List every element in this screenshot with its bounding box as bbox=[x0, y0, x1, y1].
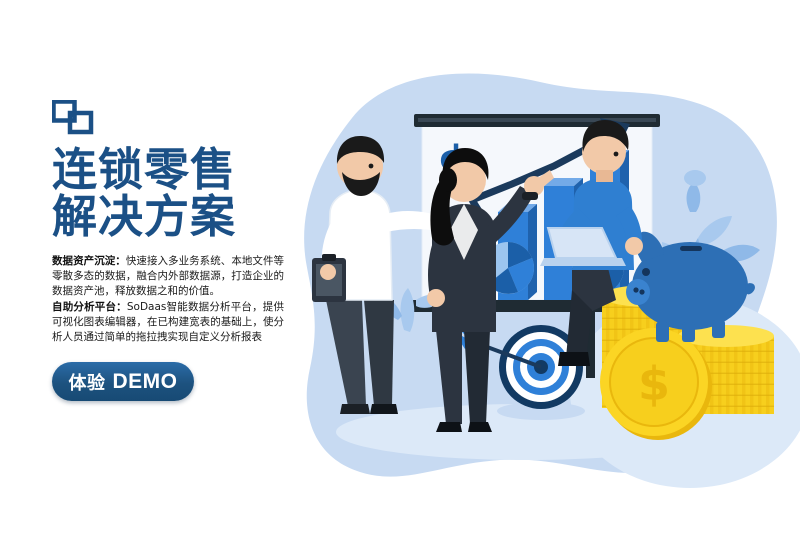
description-label-2: 自助分析平台： bbox=[52, 301, 127, 313]
description-paragraph-2: 自助分析平台：SoDaas智能数据分析平台，提供可视化图表编辑器，在已构建宽表的… bbox=[52, 300, 284, 346]
overlapping-squares-logo-icon bbox=[52, 100, 94, 136]
description-label-1: 数据资产沉淀： bbox=[52, 255, 126, 267]
headline-line-2: 解决方案 bbox=[52, 193, 297, 240]
demo-cta-button[interactable]: 体验 DEMO bbox=[52, 362, 194, 401]
wristwatch-icon bbox=[522, 192, 538, 200]
illustration-business-analytics: $ bbox=[286, 0, 800, 533]
marketing-banner: 连锁零售 解决方案 数据资产沉淀：快速接入多业务系统、本地文件等零散多态的数据，… bbox=[0, 0, 800, 533]
headline-line-1: 连锁零售 bbox=[52, 146, 297, 193]
description-block: 数据资产沉淀：快速接入多业务系统、本地文件等零散多态的数据，融合内外部数据源，打… bbox=[52, 254, 284, 345]
demo-cta-label-en: DEMO bbox=[113, 370, 178, 394]
page-title: 连锁零售 解决方案 bbox=[52, 146, 297, 240]
text-column: 连锁零售 解决方案 数据资产沉淀：快速接入多业务系统、本地文件等零散多态的数据，… bbox=[52, 100, 297, 401]
demo-cta-label-cn: 体验 bbox=[69, 369, 106, 395]
description-paragraph-1: 数据资产沉淀：快速接入多业务系统、本地文件等零散多态的数据，融合内外部数据源，打… bbox=[52, 254, 284, 300]
svg-text:$: $ bbox=[638, 357, 670, 411]
